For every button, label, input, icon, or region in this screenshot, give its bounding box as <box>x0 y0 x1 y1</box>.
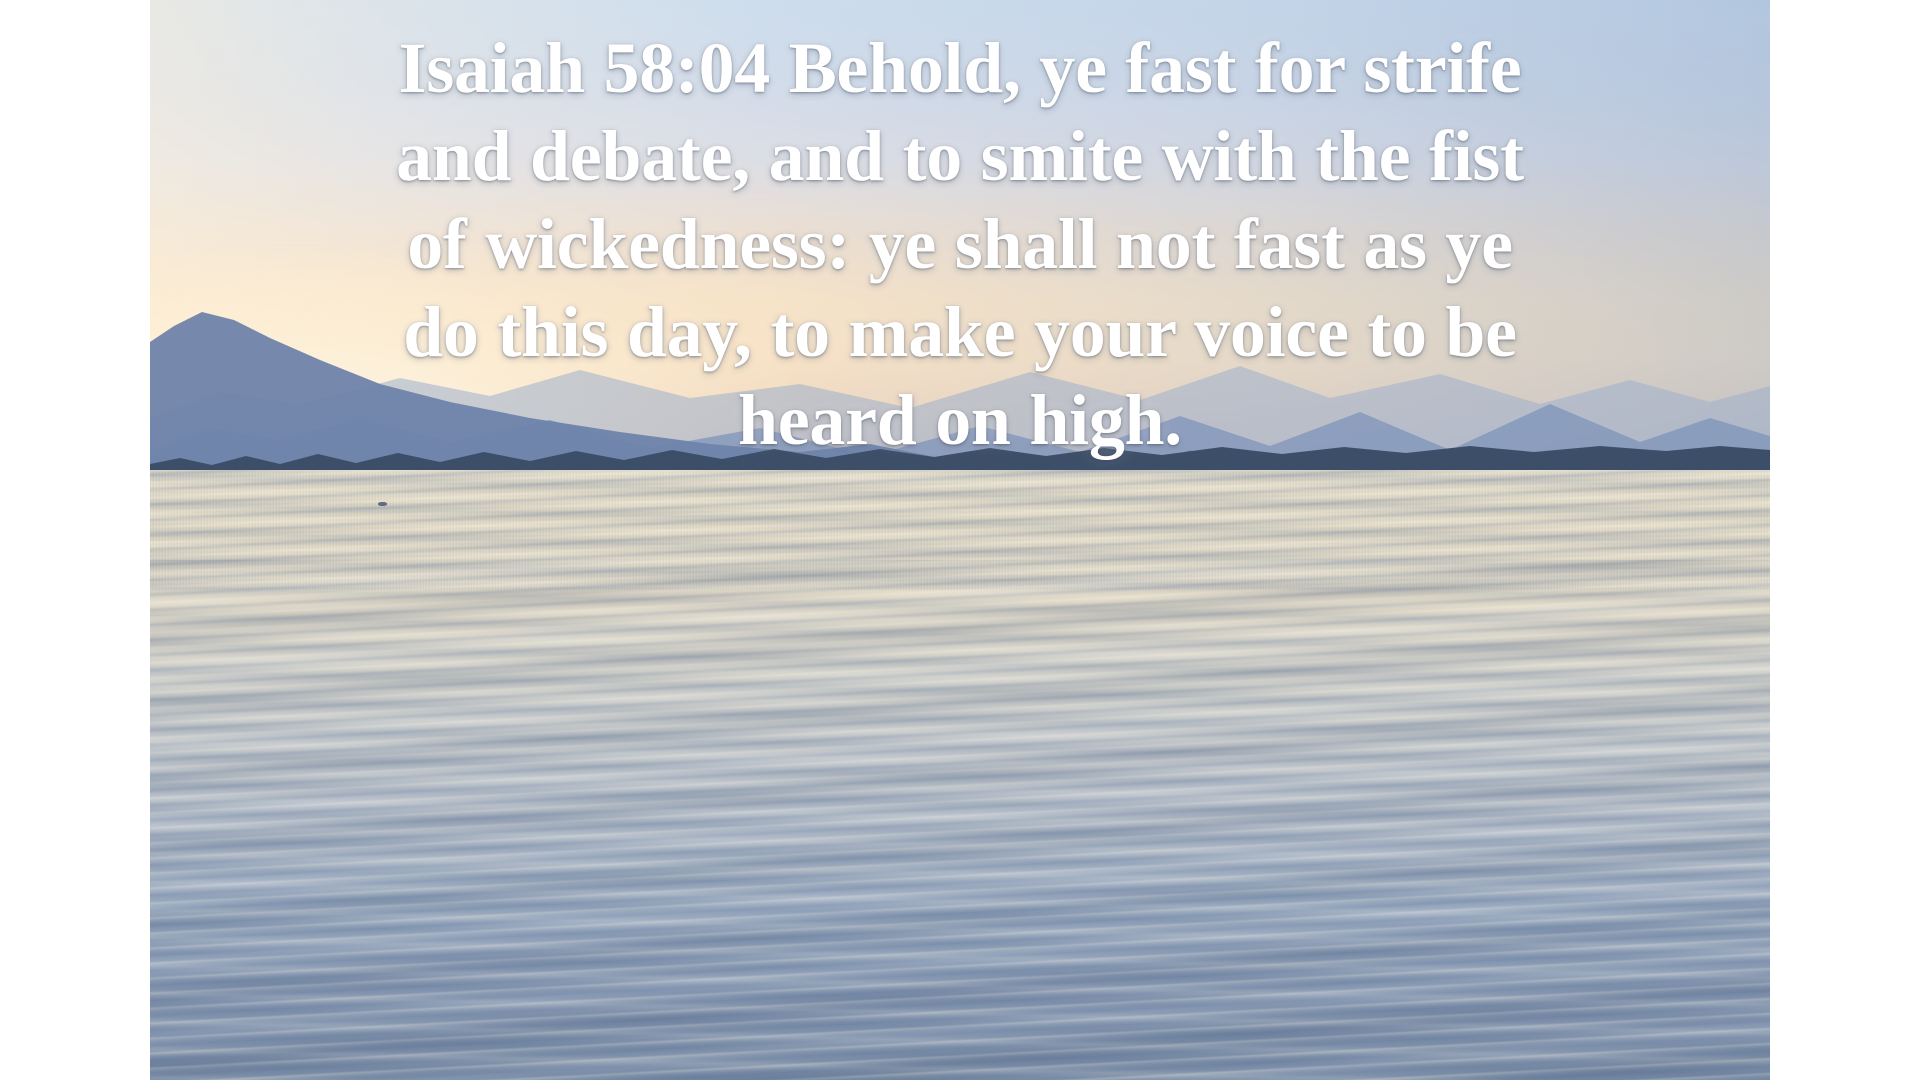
distant-boat <box>378 502 387 506</box>
page-canvas: Isaiah 58:04 Behold, ye fast for strife … <box>0 0 1920 1080</box>
water-ripples-broad <box>150 560 1770 1080</box>
scripture-image-card: Isaiah 58:04 Behold, ye fast for strife … <box>150 0 1770 1080</box>
